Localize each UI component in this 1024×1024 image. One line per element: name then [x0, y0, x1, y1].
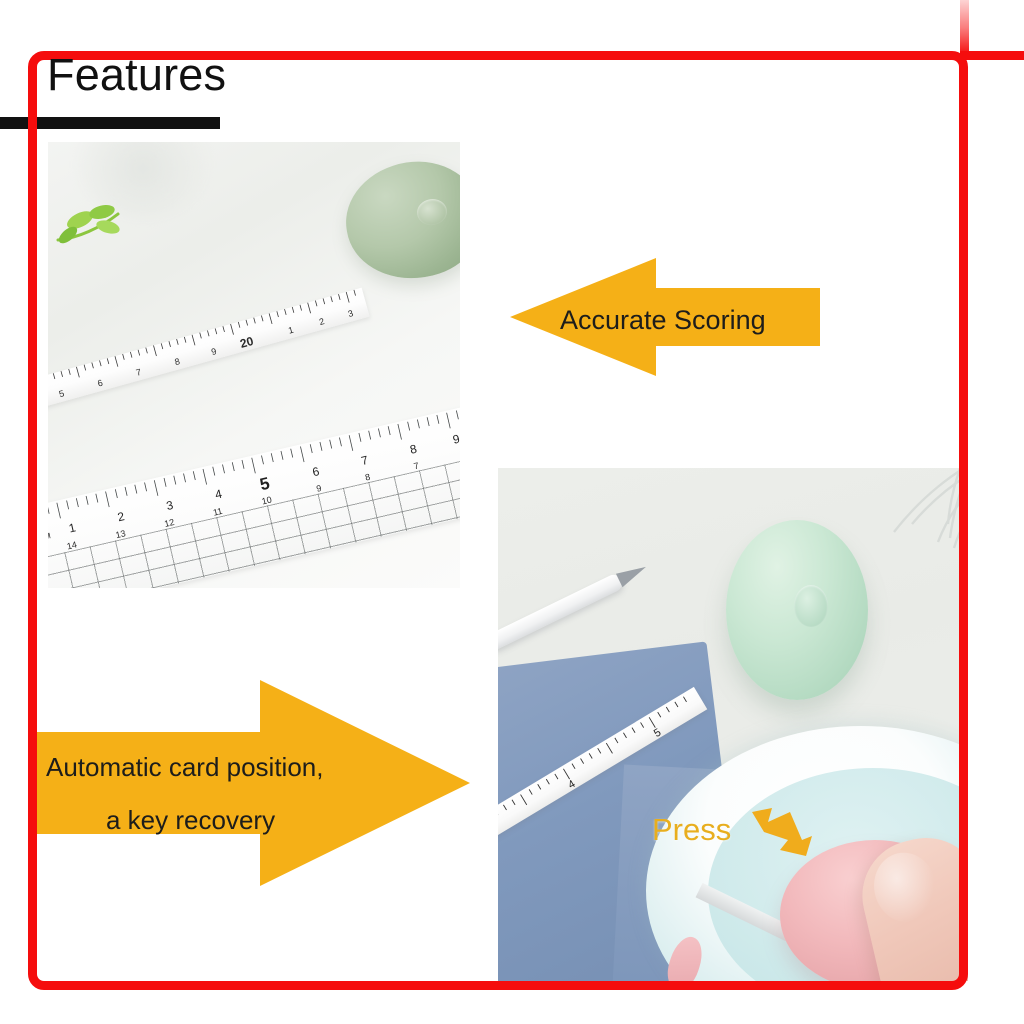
- svg-text:CM: CM: [48, 531, 52, 543]
- svg-text:7: 7: [135, 367, 143, 378]
- measuring-tape-strip: 567 89 20 123: [48, 288, 370, 408]
- automatic-recovery-arrow: [36, 680, 470, 886]
- svg-text:9: 9: [210, 346, 218, 357]
- tape-tick-marks: 567 89 20 123: [48, 288, 370, 408]
- svg-text:7: 7: [360, 453, 370, 468]
- press-retract-demo-photo: 345: [498, 468, 968, 981]
- svg-text:2: 2: [116, 509, 126, 524]
- svg-text:8: 8: [173, 356, 181, 367]
- svg-text:9: 9: [451, 432, 460, 447]
- svg-text:3: 3: [165, 498, 175, 513]
- svg-text:4: 4: [214, 487, 224, 502]
- green-tape-measure-case: [338, 152, 460, 288]
- svg-text:8: 8: [408, 442, 418, 457]
- page-title: Features: [47, 52, 226, 97]
- svg-text:5: 5: [58, 388, 66, 399]
- svg-text:6: 6: [311, 464, 321, 479]
- plant-sprig-icon: [56, 194, 156, 260]
- svg-text:5: 5: [258, 474, 272, 495]
- svg-text:20: 20: [238, 334, 255, 351]
- palm-leaf-shadow-icon: [842, 468, 968, 554]
- press-label: Press: [652, 812, 731, 848]
- plastic-ruler: 0CM 12 34 5 67 89 10 151413 121110 987 6…: [48, 396, 460, 588]
- svg-text:2: 2: [318, 316, 326, 327]
- press-direction-arrow-icon: [750, 802, 816, 858]
- accurate-scoring-arrow: [510, 258, 820, 376]
- svg-text:6: 6: [96, 378, 104, 389]
- infographic-page: 567 89 20 123: [0, 0, 1024, 1024]
- svg-text:1: 1: [67, 520, 77, 535]
- red-frame-top-bleed: [960, 51, 1024, 60]
- red-accent-stub: [960, 0, 969, 52]
- tape-measure-and-ruler-photo: 567 89 20 123: [48, 142, 460, 588]
- white-pen: [498, 572, 625, 652]
- svg-text:3: 3: [347, 308, 355, 319]
- mint-tape-measure-case: [726, 520, 868, 700]
- svg-text:1: 1: [287, 325, 295, 336]
- title-underline-rule: [0, 117, 220, 129]
